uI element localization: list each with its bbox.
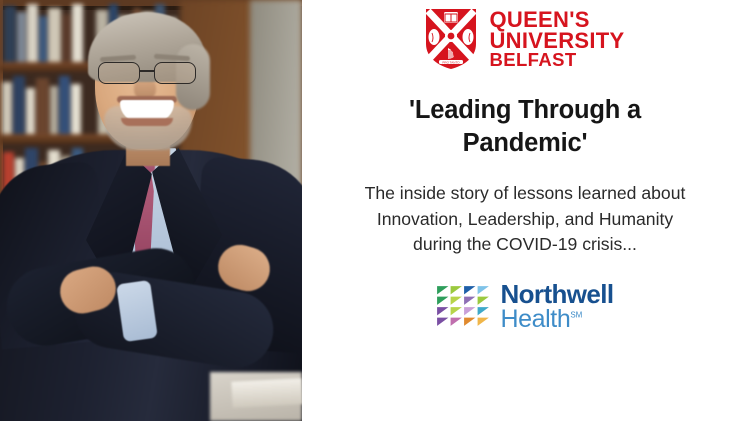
speaker-portrait-photo — [0, 0, 302, 421]
university-name-line3: BELFAST — [489, 51, 624, 69]
northwell-chevron-mark-icon — [436, 285, 490, 327]
papers-stack — [231, 378, 302, 408]
speaker-figure — [0, 0, 302, 421]
lower-lip — [121, 118, 173, 126]
slide-title-line2: Pandemic' — [325, 127, 725, 160]
slide-subtitle-line1: The inside story of lessons learned abou… — [312, 181, 738, 207]
eyeglasses-icon — [96, 62, 200, 84]
queens-crest-icon: PRO TANTO — [425, 8, 477, 70]
slide-title: 'Leading Through a Pandemic' — [325, 94, 725, 159]
slide-subtitle-line3: during the COVID-19 crisis... — [312, 232, 738, 258]
slide-title-line1: 'Leading Through a — [325, 94, 725, 127]
northwell-health-logo: Northwell HealthSM — [436, 281, 613, 332]
svg-text:PRO TANTO: PRO TANTO — [443, 60, 461, 64]
presentation-slide: PRO TANTO QUEEN'S UNIVERSITY BELFAST 'Le… — [0, 0, 748, 421]
northwell-health-text: Health — [500, 305, 570, 333]
slide-content-pane: PRO TANTO QUEEN'S UNIVERSITY BELFAST 'Le… — [302, 0, 748, 421]
northwell-wordmark-bottom: HealthSM — [500, 307, 613, 332]
slide-subtitle: The inside story of lessons learned abou… — [312, 181, 738, 258]
queens-university-belfast-logo: PRO TANTO QUEEN'S UNIVERSITY BELFAST — [425, 8, 624, 70]
university-name-line2: UNIVERSITY — [489, 30, 624, 51]
university-name-line1: QUEEN'S — [489, 9, 624, 30]
northwell-wordmark-top: Northwell — [500, 281, 613, 307]
slide-subtitle-line2: Innovation, Leadership, and Humanity — [312, 207, 738, 233]
service-mark: SM — [570, 310, 582, 319]
